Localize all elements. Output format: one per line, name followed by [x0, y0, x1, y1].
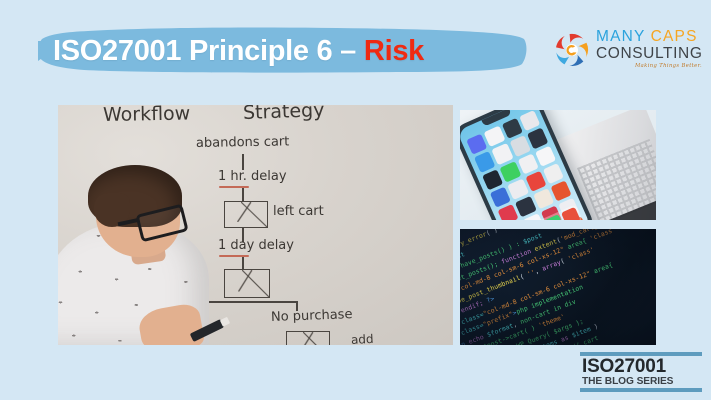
code-lines: 'cap_no_@query_error( ) } )) }; $post 'p… [460, 229, 656, 345]
title-main-text: ISO27001 Principle 6 – [53, 35, 356, 68]
whiteboard-heading-workflow: Workflow [103, 105, 191, 126]
logo-wordmark: MANYCAPS CONSULTING Making Things Better… [596, 28, 702, 69]
whiteboard-heading-strategy: Strategy [243, 105, 325, 124]
whiteboard-step-add: add [351, 332, 374, 345]
source-code-photo: 'cap_no_@query_error( ) } )) }; $post 'p… [460, 229, 656, 345]
brand-logo[interactable]: MANYCAPS CONSULTING Making Things Better… [552, 26, 702, 78]
whiteboard-step-abandons-cart: abandons cart [196, 134, 290, 151]
whiteboard-connector-1 [242, 154, 244, 170]
badge-bar-bottom [580, 388, 702, 392]
many-caps-swirl-logo-icon [552, 30, 592, 70]
whiteboard-envelope-3 [286, 331, 330, 345]
title-accent-text: Risk [364, 35, 424, 68]
whiteboard-step-no-purchase: No purchase [271, 307, 353, 325]
app-icon [527, 128, 548, 149]
logo-tagline: Making Things Better. [596, 63, 702, 69]
whiteboard-connector-2 [242, 188, 244, 202]
app-icon [535, 145, 556, 166]
slide-canvas: ISO27001 Principle 6 – Risk [0, 0, 711, 400]
page-title: ISO27001 Principle 6 – Risk [53, 31, 424, 71]
smartphone-photo [460, 110, 656, 220]
badge-title: ISO27001 [582, 357, 666, 377]
logo-word-caps: CAPS [651, 28, 698, 45]
whiteboard-photo: Workflow Strategy abandons cart 1 hr. de… [58, 105, 453, 345]
dock-icon [561, 207, 581, 220]
whiteboard-label-left-cart: left cart [273, 204, 324, 219]
badge-subtitle: THE BLOG SERIES [582, 376, 673, 387]
title-banner: ISO27001 Principle 6 – Risk [36, 27, 528, 74]
app-icon [499, 161, 520, 182]
app-icon [474, 151, 495, 172]
app-icon [509, 135, 530, 156]
logo-word-consulting: CONSULTING [596, 45, 702, 62]
app-icon [482, 169, 503, 190]
logo-line-one: MANYCAPS [596, 28, 702, 45]
logo-word-many: MANY [596, 28, 646, 45]
blog-series-badge: ISO27001 THE BLOG SERIES [580, 352, 702, 392]
app-icon [517, 153, 538, 174]
app-icon [492, 143, 513, 164]
whiteboard-person [58, 155, 232, 345]
code-editor-background: 'cap_no_@query_error( ) } )) }; $post 'p… [460, 229, 656, 345]
